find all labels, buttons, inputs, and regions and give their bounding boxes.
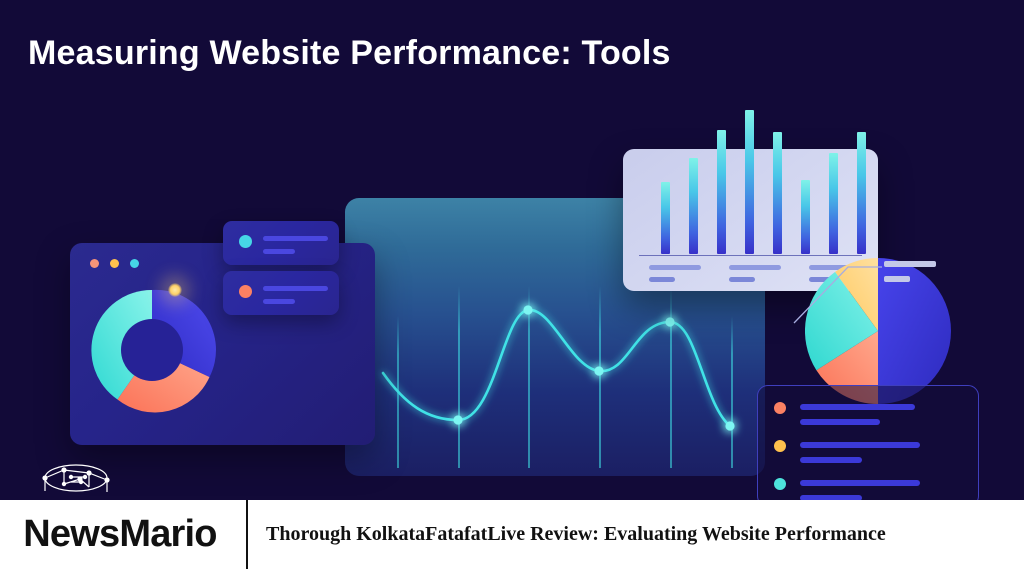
dashboard-illustration: [0, 0, 1024, 500]
text-bar: [649, 265, 701, 270]
donut-hole: [121, 319, 183, 381]
bar: [773, 132, 782, 254]
bar: [689, 158, 698, 254]
text-bar: [649, 277, 675, 282]
bar: [661, 182, 670, 254]
status-dot-teal-icon: [239, 235, 252, 248]
bar: [745, 110, 754, 254]
status-dot-coral-icon: [239, 285, 252, 298]
network-globe-icon: [33, 458, 119, 500]
trend-line-path: [383, 310, 730, 426]
callout-leader-line-icon: [790, 259, 894, 329]
donut-chart: [85, 283, 219, 417]
text-bar: [800, 419, 880, 425]
text-bar: [800, 442, 920, 448]
window-traffic-lights: [90, 259, 139, 268]
bar: [717, 130, 726, 254]
text-bar: [263, 299, 295, 304]
text-bar: [263, 249, 295, 254]
traffic-light-yellow-icon[interactable]: [110, 259, 119, 268]
brand-logo[interactable]: NewsMario: [0, 500, 246, 569]
traffic-light-red-icon[interactable]: [90, 259, 99, 268]
text-bar: [263, 286, 328, 291]
screenshot-root: Measuring Website Performance: Tools: [0, 0, 1024, 569]
metrics-legend-card[interactable]: [757, 385, 979, 507]
text-bar: [263, 236, 328, 241]
traffic-light-green-icon[interactable]: [130, 259, 139, 268]
bottom-banner: NewsMario Thorough KolkataFatafatLive Re…: [0, 500, 1024, 569]
metric-card-2[interactable]: [223, 271, 339, 315]
legend-dot-coral-icon: [774, 402, 786, 414]
glow-dot-marker-icon: [168, 283, 182, 297]
bar: [829, 153, 838, 254]
metric-card-1[interactable]: [223, 221, 339, 265]
bar-chart-axis: [639, 255, 862, 257]
text-bar: [800, 404, 915, 410]
bar: [801, 180, 810, 254]
bar: [857, 132, 866, 254]
text-bar: [729, 277, 755, 282]
banner-headline: Thorough KolkataFatafatLive Review: Eval…: [248, 523, 1024, 546]
legend-dot-yellow-icon: [774, 440, 786, 452]
text-bar: [800, 480, 920, 486]
text-bar: [729, 265, 781, 270]
brand-name: NewsMario: [23, 513, 216, 556]
pie-callout: [884, 261, 936, 282]
legend-dot-teal-icon: [774, 478, 786, 490]
text-bar: [800, 457, 862, 463]
